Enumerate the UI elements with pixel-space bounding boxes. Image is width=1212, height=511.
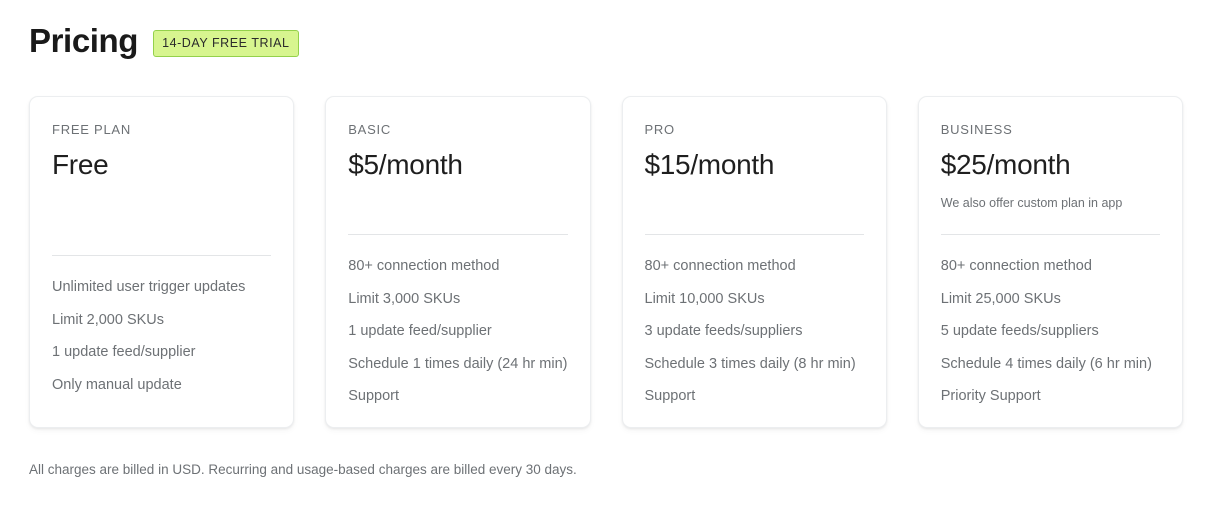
page-header: Pricing 14-DAY FREE TRIAL	[29, 24, 299, 57]
plan-note: We also offer custom plan in app	[941, 195, 1160, 211]
feature-item: 1 update feed/supplier	[52, 343, 271, 363]
feature-list: 80+ connection methodLimit 3,000 SKUs1 u…	[348, 235, 567, 407]
card-header: BUSINESS$25/monthWe also offer custom pl…	[941, 123, 1160, 235]
plan-name: BUSINESS	[941, 123, 1160, 136]
feature-item: Priority Support	[941, 387, 1160, 407]
plan-price: $25/month	[941, 148, 1160, 181]
trial-badge: 14-DAY FREE TRIAL	[153, 30, 298, 57]
feature-item: Support	[645, 387, 864, 407]
feature-item: Schedule 4 times daily (6 hr min)	[941, 355, 1160, 375]
feature-item: Schedule 1 times daily (24 hr min)	[348, 355, 567, 375]
pricing-card[interactable]: FREE PLANFree Unlimited user trigger upd…	[29, 96, 294, 428]
feature-item: Limit 25,000 SKUs	[941, 290, 1160, 310]
feature-item: 80+ connection method	[645, 257, 864, 277]
feature-item: 5 update feeds/suppliers	[941, 322, 1160, 342]
feature-item: Limit 2,000 SKUs	[52, 311, 271, 331]
feature-list: Unlimited user trigger updatesLimit 2,00…	[52, 256, 271, 395]
card-header: BASIC$5/month	[348, 123, 567, 235]
plan-name: PRO	[645, 123, 864, 136]
pricing-cards-row: FREE PLANFree Unlimited user trigger upd…	[29, 96, 1183, 428]
feature-item: Only manual update	[52, 376, 271, 396]
feature-item: Support	[348, 387, 567, 407]
pricing-card[interactable]: BASIC$5/month 80+ connection methodLimit…	[325, 96, 590, 428]
feature-item: Schedule 3 times daily (8 hr min)	[645, 355, 864, 375]
feature-item: 3 update feeds/suppliers	[645, 322, 864, 342]
feature-item: 80+ connection method	[941, 257, 1160, 277]
feature-list: 80+ connection methodLimit 10,000 SKUs3 …	[645, 235, 864, 407]
feature-item: 80+ connection method	[348, 257, 567, 277]
feature-item: Limit 3,000 SKUs	[348, 290, 567, 310]
billing-disclaimer: All charges are billed in USD. Recurring…	[29, 461, 577, 480]
plan-name: FREE PLAN	[52, 123, 271, 136]
pricing-card[interactable]: PRO$15/month 80+ connection methodLimit …	[622, 96, 887, 428]
plan-price: $5/month	[348, 148, 567, 181]
feature-item: Limit 10,000 SKUs	[645, 290, 864, 310]
plan-name: BASIC	[348, 123, 567, 136]
feature-item: Unlimited user trigger updates	[52, 278, 271, 298]
page-title: Pricing	[29, 24, 138, 57]
feature-list: 80+ connection methodLimit 25,000 SKUs5 …	[941, 235, 1160, 407]
pricing-page: Pricing 14-DAY FREE TRIAL FREE PLANFree …	[0, 0, 1212, 511]
pricing-card[interactable]: BUSINESS$25/monthWe also offer custom pl…	[918, 96, 1183, 428]
card-header: PRO$15/month	[645, 123, 864, 235]
plan-price: $15/month	[645, 148, 864, 181]
plan-price: Free	[52, 148, 271, 181]
card-header: FREE PLANFree	[52, 123, 271, 256]
feature-item: 1 update feed/supplier	[348, 322, 567, 342]
